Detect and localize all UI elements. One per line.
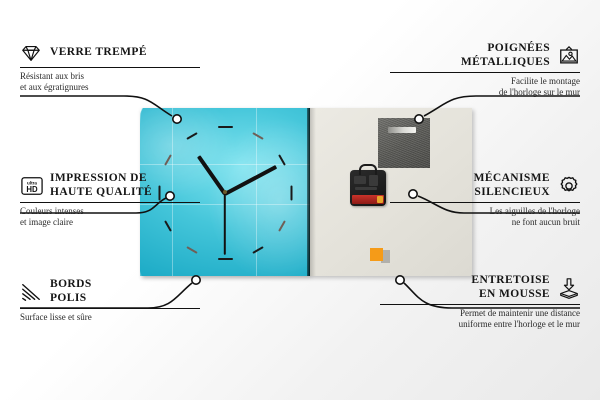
callout-subtitle: Les aiguilles de l'horloge ne font aucun… bbox=[390, 206, 580, 228]
callout-title: VERRE TREMPÉ bbox=[50, 46, 147, 60]
callout-title: BORDSPOLIS bbox=[50, 278, 92, 305]
clock-tick bbox=[218, 126, 233, 128]
infographic-canvas: VERRE TREMPÉ Résistant aux bris et aux é… bbox=[0, 0, 600, 400]
foam-spacer-icon bbox=[558, 277, 580, 299]
callout-verre-trempe[interactable]: VERRE TREMPÉ Résistant aux bris et aux é… bbox=[20, 42, 200, 93]
metal-hanger-plate bbox=[378, 118, 430, 168]
callout-rule bbox=[20, 202, 200, 203]
mechanism-hanging-loop bbox=[359, 164, 377, 175]
clock-second-hand bbox=[224, 193, 226, 255]
callout-rule bbox=[390, 72, 580, 73]
ultra-hd-icon: ultra HD bbox=[20, 175, 42, 197]
callout-impression-haute-qualite[interactable]: ultra HD IMPRESSION DEHAUTE QUALITÉ Coul… bbox=[20, 172, 200, 228]
callout-subtitle: Facilite le montage de l'horloge sur le … bbox=[390, 76, 580, 98]
callout-mecanisme-silencieux[interactable]: MÉCANISMESILENCIEUX Les aiguilles de l'h… bbox=[390, 172, 580, 228]
foam-spacer-pad bbox=[370, 248, 383, 261]
polished-edge-icon bbox=[20, 281, 42, 303]
clock-tick bbox=[218, 258, 233, 260]
callout-subtitle: Surface lisse et sûre bbox=[20, 312, 200, 323]
callout-subtitle: Résistant aux bris et aux égratignures bbox=[20, 71, 200, 93]
clock-center-hub bbox=[223, 190, 227, 194]
callout-subtitle: Permet de maintenir une distance uniform… bbox=[380, 308, 580, 330]
picture-hanger-icon bbox=[558, 45, 580, 67]
gear-icon bbox=[558, 175, 580, 197]
clock-tick bbox=[290, 186, 292, 201]
callout-entretoise-en-mousse[interactable]: ENTRETOISEEN MOUSSE Permet de maintenir … bbox=[380, 274, 580, 330]
callout-rule bbox=[380, 304, 580, 305]
callout-poignees-metalliques[interactable]: POIGNÉESMÉTALLIQUES Facilite le montage … bbox=[390, 42, 580, 98]
hanger-slot bbox=[388, 127, 416, 133]
diamond-icon bbox=[20, 42, 42, 64]
callout-bords-polis[interactable]: BORDSPOLIS Surface lisse et sûre bbox=[20, 278, 200, 323]
callout-rule bbox=[20, 308, 200, 309]
callout-title: ENTRETOISEEN MOUSSE bbox=[471, 274, 550, 301]
battery-plus-terminal bbox=[377, 196, 383, 203]
battery bbox=[352, 195, 384, 204]
callout-subtitle: Couleurs intenses et image claire bbox=[20, 206, 200, 228]
callout-title: POIGNÉESMÉTALLIQUES bbox=[461, 42, 550, 69]
callout-rule bbox=[390, 202, 580, 203]
callout-rule bbox=[20, 67, 200, 68]
clock-mechanism-box bbox=[350, 170, 386, 206]
callout-title: IMPRESSION DEHAUTE QUALITÉ bbox=[50, 172, 152, 199]
svg-text:HD: HD bbox=[26, 184, 38, 193]
callout-title: MÉCANISMESILENCIEUX bbox=[474, 172, 550, 199]
